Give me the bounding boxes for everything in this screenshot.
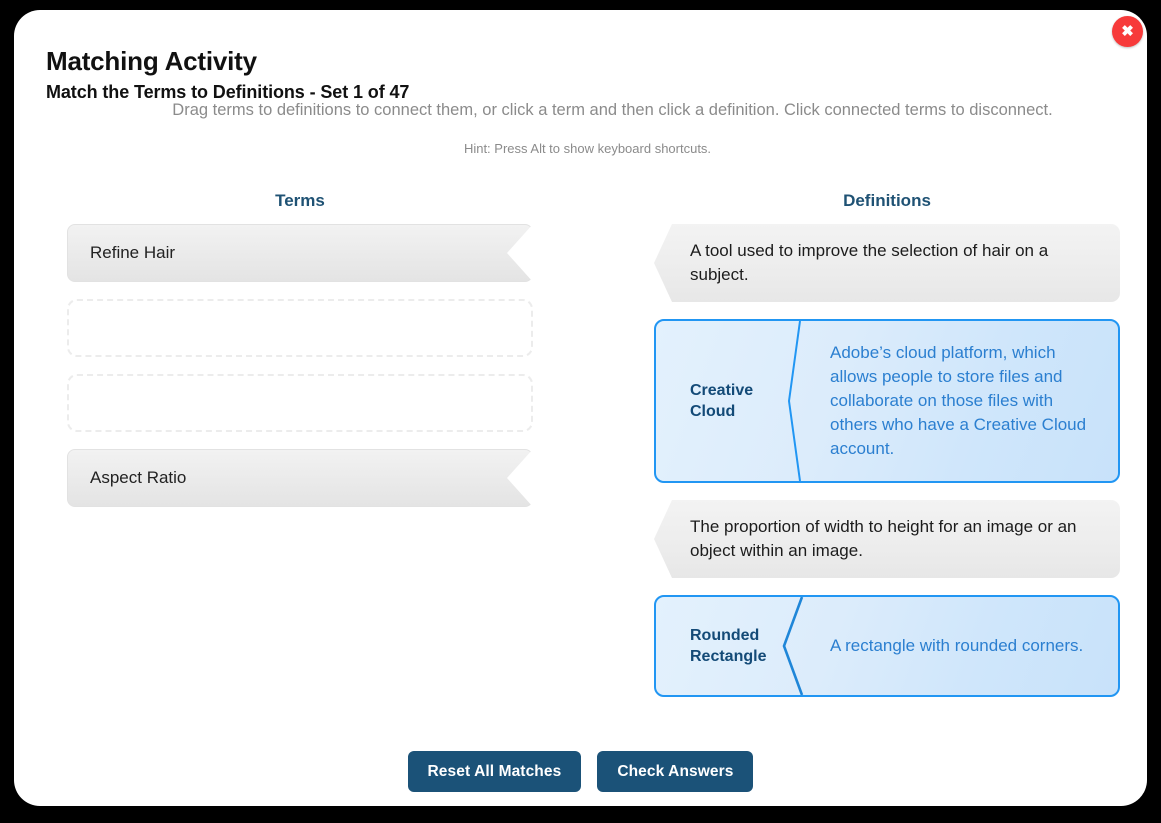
close-icon[interactable]: ✖ [1112, 16, 1143, 47]
term-chip[interactable]: Aspect Ratio [67, 449, 533, 507]
page-title: Matching Activity [46, 46, 1147, 77]
term-label: Refine Hair [68, 243, 175, 263]
term-label: Aspect Ratio [68, 468, 186, 488]
reset-all-matches-button[interactable]: Reset All Matches [408, 751, 582, 792]
definitions-column: A tool used to improve the selection of … [654, 224, 1120, 714]
check-answers-button[interactable]: Check Answers [597, 751, 753, 792]
term-chip[interactable]: Refine Hair [67, 224, 533, 282]
term-empty-slot[interactable] [67, 299, 533, 357]
close-x-glyph: ✖ [1112, 16, 1143, 47]
matched-pair-card[interactable]: Rounded Rectangle A rectangle with round… [654, 595, 1120, 697]
screen-backdrop: Matching Activity Match the Terms to Def… [0, 0, 1161, 823]
matched-pair-card[interactable]: Creative Cloud Adobe’s cloud platform, w… [654, 319, 1120, 483]
matched-term-label: Creative Cloud [656, 321, 794, 481]
definition-card[interactable]: A tool used to improve the selection of … [654, 224, 1120, 302]
page-subtitle: Match the Terms to Definitions - Set 1 o… [46, 82, 1147, 103]
term-empty-slot[interactable] [67, 374, 533, 432]
definition-text: A tool used to improve the selection of … [654, 225, 1120, 301]
definitions-column-heading: Definitions [654, 191, 1120, 211]
instructions-text: Drag terms to definitions to connect the… [14, 101, 1147, 120]
keyboard-hint-text: Hint: Press Alt to show keyboard shortcu… [14, 141, 1147, 156]
matched-definition-text: A rectangle with rounded corners. [794, 597, 1118, 695]
matched-term-label: Rounded Rectangle [656, 597, 794, 695]
definition-text: The proportion of width to height for an… [654, 501, 1120, 577]
terms-column-heading: Terms [67, 191, 533, 211]
footer-actions: Reset All Matches Check Answers [14, 751, 1147, 792]
matched-definition-text: Adobe’s cloud platform, which allows peo… [794, 321, 1118, 481]
terms-column: Refine Hair Aspect Ratio [67, 224, 533, 524]
definition-card[interactable]: The proportion of width to height for an… [654, 500, 1120, 578]
matching-activity-modal: Matching Activity Match the Terms to Def… [14, 10, 1147, 806]
